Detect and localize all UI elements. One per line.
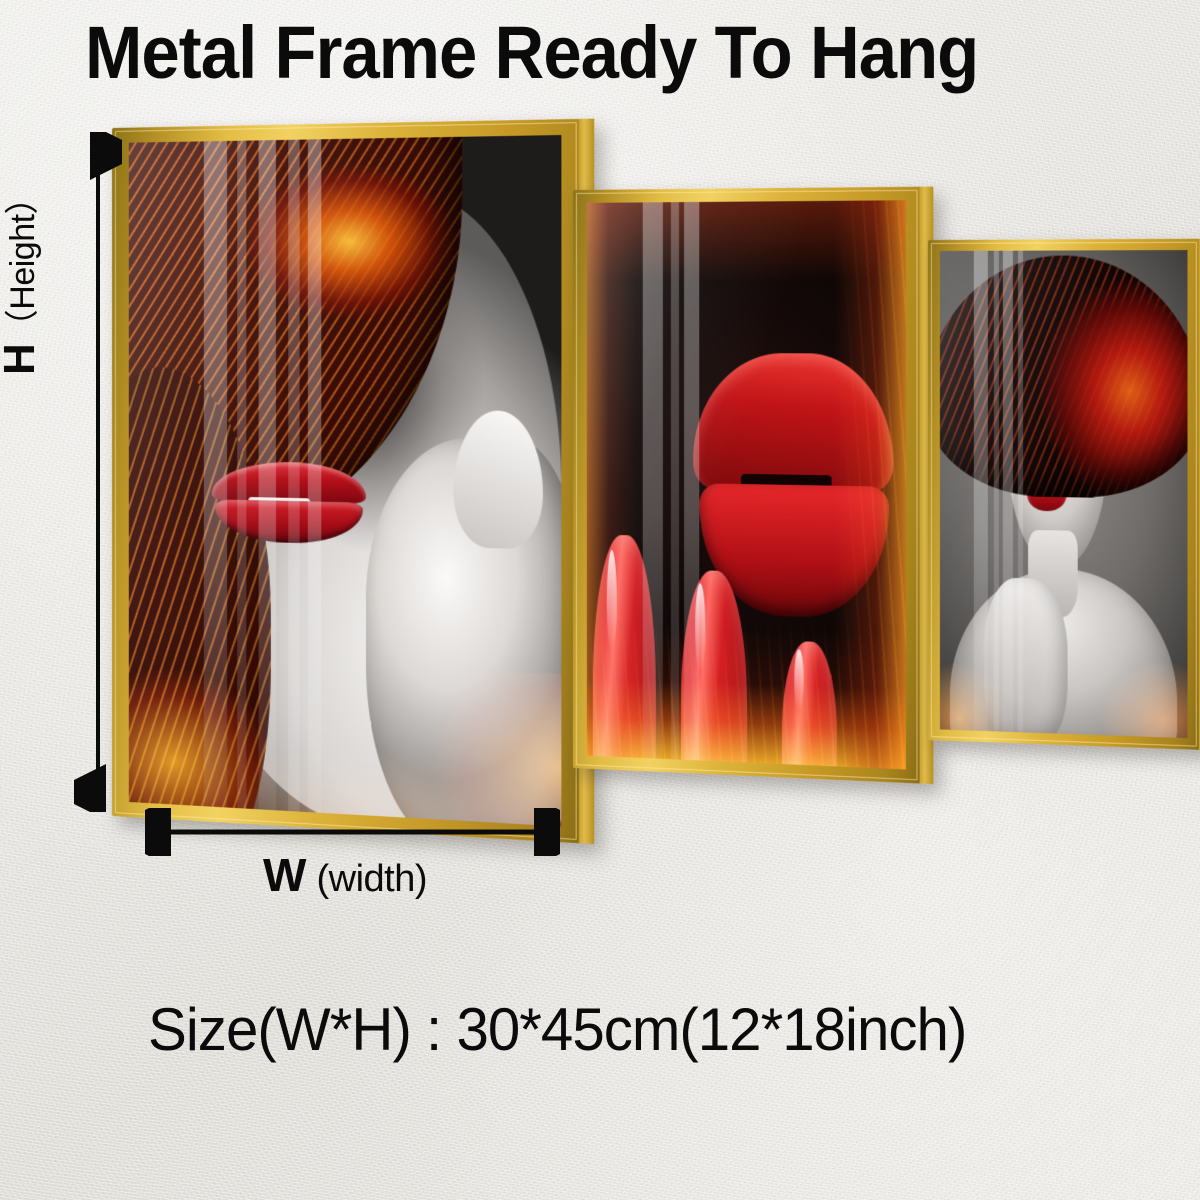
panel-3-red-hat bbox=[940, 255, 1188, 499]
panel-1-artwork bbox=[129, 135, 562, 826]
panel-3-artwork bbox=[940, 250, 1188, 738]
size-caption: Size(W*H) : 30*45cm(12*18inch) bbox=[148, 1000, 966, 1060]
width-label-main: W bbox=[263, 849, 306, 901]
panel-2-artwork bbox=[587, 200, 906, 769]
framed-art-panel-1[interactable] bbox=[112, 119, 580, 843]
panel-2-flame-texture bbox=[587, 200, 906, 769]
width-label: W (width) bbox=[263, 852, 427, 898]
height-dimension-arrow bbox=[74, 132, 122, 812]
framed-art-panel-3[interactable] bbox=[928, 239, 1200, 750]
panel-1-red-lips bbox=[212, 461, 366, 542]
width-dimension-arrow bbox=[145, 808, 560, 856]
panel-3-embers bbox=[940, 643, 1188, 738]
height-label-main: H bbox=[0, 343, 44, 375]
width-label-sub: (width) bbox=[306, 858, 427, 900]
page-title: Metal Frame Ready To Hang bbox=[85, 16, 978, 90]
framed-art-panel-2[interactable] bbox=[573, 187, 921, 784]
height-label: H（Height） bbox=[0, 145, 42, 375]
height-label-sub: （Height） bbox=[4, 181, 42, 343]
panel-1-embers bbox=[129, 656, 562, 827]
